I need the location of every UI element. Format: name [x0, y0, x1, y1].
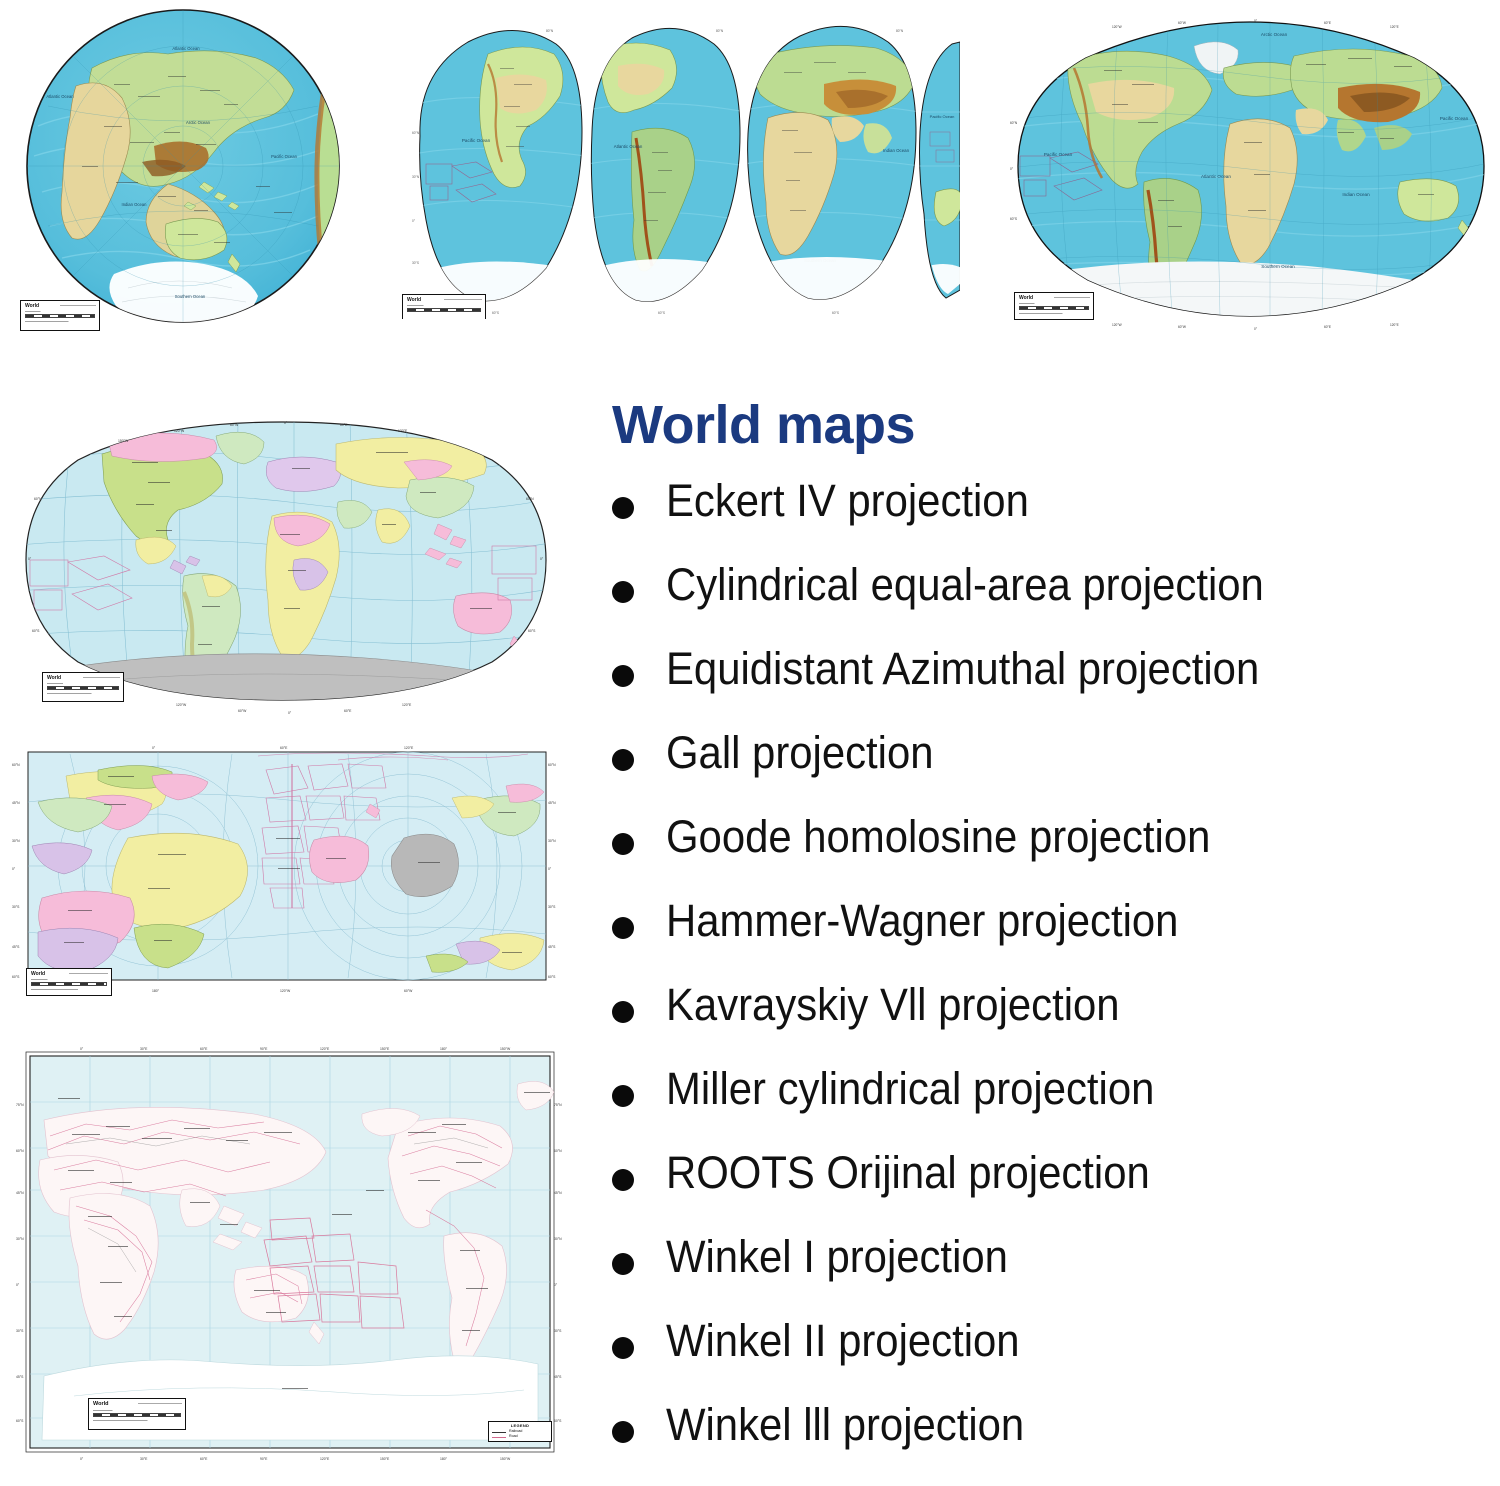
list-item[interactable]: Equidistant Azimuthal projection — [612, 646, 1492, 730]
svg-text:60°N: 60°N — [1010, 121, 1018, 125]
svg-text:60°S: 60°S — [32, 629, 40, 633]
svg-text:Southern Ocean: Southern Ocean — [1261, 264, 1295, 269]
legend-row-road: Road — [492, 1435, 548, 1439]
list-item-label: Winkel lll projection — [666, 1402, 1024, 1447]
svg-text:60°E: 60°E — [1324, 325, 1331, 329]
svg-text:0°: 0° — [412, 219, 416, 223]
svg-text:30°N: 30°N — [548, 839, 556, 843]
svg-text:90°E: 90°E — [260, 1457, 268, 1461]
svg-text:Pacific Ocean: Pacific Ocean — [1044, 152, 1073, 157]
svg-text:0°: 0° — [1010, 167, 1014, 171]
svg-text:0°: 0° — [554, 1283, 558, 1287]
legend-row-railroad: Railroad — [492, 1430, 548, 1434]
svg-text:60°N: 60°N — [16, 1149, 24, 1153]
map-miller-transport[interactable]: 75°N60°N45°N 30°N0°30°S 45°S60°S 75°N60°… — [14, 1040, 566, 1464]
svg-text:180°: 180° — [152, 989, 160, 993]
legend-title: LEGEND — [492, 1424, 548, 1429]
svg-text:120°W: 120°W — [280, 989, 291, 993]
svg-text:180°: 180° — [440, 1047, 448, 1051]
list-item-label: Miller cylindrical projection — [666, 1066, 1154, 1111]
bullet-icon — [612, 1253, 634, 1275]
svg-text:60°W: 60°W — [230, 423, 239, 427]
svg-text:120°E: 120°E — [402, 703, 412, 707]
projection-list: Eckert IV projection Cylindrical equal-a… — [612, 478, 1492, 1486]
svg-text:Indian Ocean: Indian Ocean — [122, 202, 148, 207]
svg-text:45°S: 45°S — [12, 945, 20, 949]
svg-text:90°E: 90°E — [260, 1047, 268, 1051]
svg-text:60°E: 60°E — [280, 746, 288, 750]
svg-text:80°N: 80°N — [716, 29, 724, 33]
svg-text:Atlantic Ocean: Atlantic Ocean — [46, 94, 74, 99]
svg-text:150°W: 150°W — [500, 1047, 511, 1051]
svg-text:30°N: 30°N — [16, 1237, 24, 1241]
list-item[interactable]: Winkel lll projection — [612, 1402, 1492, 1486]
svg-text:Pacific Ocean: Pacific Ocean — [271, 154, 298, 159]
svg-text:0°: 0° — [288, 711, 292, 715]
svg-text:0°: 0° — [1254, 327, 1258, 331]
bullet-icon — [612, 581, 634, 603]
svg-text:120°W: 120°W — [1112, 25, 1122, 29]
svg-text:60°S: 60°S — [16, 1419, 24, 1423]
svg-text:180°: 180° — [440, 1457, 448, 1461]
svg-text:60°S: 60°S — [12, 975, 20, 979]
list-item[interactable]: Miller cylindrical projection — [612, 1066, 1492, 1150]
map-political-oval[interactable]: 150°W120°W60°W 0°60°E120°E 150°W120°W60°… — [6, 400, 566, 720]
svg-text:30°S: 30°S — [554, 1329, 562, 1333]
svg-text:0°: 0° — [80, 1047, 84, 1051]
svg-text:60°N: 60°N — [554, 1149, 562, 1153]
svg-text:45°S: 45°S — [548, 945, 556, 949]
map-titleblock: World — [1014, 292, 1094, 320]
legend-label: Road — [509, 1435, 518, 1439]
bullet-icon — [612, 1337, 634, 1359]
svg-text:30°S: 30°S — [412, 261, 419, 265]
list-item-label: Goode homolosine projection — [666, 814, 1210, 859]
svg-text:120°W: 120°W — [174, 429, 185, 433]
bullet-icon — [612, 1169, 634, 1191]
bullet-icon — [612, 1421, 634, 1443]
list-item-label: Kavrayskiy Vll projection — [666, 982, 1120, 1027]
svg-text:30°E: 30°E — [140, 1047, 148, 1051]
svg-text:0°: 0° — [12, 867, 16, 871]
map-titleblock: World — [42, 672, 124, 702]
svg-text:60°S: 60°S — [548, 975, 556, 979]
svg-text:60°S: 60°S — [492, 311, 499, 315]
bullet-icon — [612, 1085, 634, 1107]
svg-text:150°E: 150°E — [380, 1457, 390, 1461]
svg-text:60°E: 60°E — [1324, 21, 1331, 25]
svg-text:60°S: 60°S — [528, 629, 536, 633]
bullet-icon — [612, 1001, 634, 1023]
list-item[interactable]: ROOTS Orijinal projection — [612, 1150, 1492, 1234]
svg-text:60°W: 60°W — [404, 989, 413, 993]
map-legend: LEGEND Railroad Road — [488, 1421, 552, 1442]
map-winkel-oval-physical[interactable]: Arctic Ocean Pacific Ocean Pacific Ocean… — [1008, 4, 1493, 334]
bullet-icon — [612, 833, 634, 855]
list-item-label: Winkel II projection — [666, 1318, 1020, 1363]
svg-text:0°: 0° — [152, 746, 156, 750]
svg-text:30°N: 30°N — [554, 1237, 562, 1241]
svg-text:45°N: 45°N — [554, 1191, 562, 1195]
svg-text:60°W: 60°W — [238, 709, 247, 713]
list-item[interactable]: Cylindrical equal-area projection — [612, 562, 1492, 646]
svg-text:120°E: 120°E — [404, 746, 414, 750]
svg-text:60°E: 60°E — [340, 423, 348, 427]
list-item-label: ROOTS Orijinal projection — [666, 1150, 1150, 1195]
svg-text:60°E: 60°E — [200, 1047, 208, 1051]
svg-text:120°W: 120°W — [176, 703, 187, 707]
list-item[interactable]: Winkel II projection — [612, 1318, 1492, 1402]
svg-text:Indian Ocean: Indian Ocean — [1342, 192, 1370, 197]
map-cylindrical-equal-area-political[interactable]: 60°N45°N30°N 0°30°S45°S 60°S 60°N45°N30°… — [8, 742, 560, 997]
svg-text:120°E: 120°E — [320, 1457, 330, 1461]
svg-text:Arctic Ocean: Arctic Ocean — [1261, 32, 1288, 37]
svg-text:60°W: 60°W — [1178, 21, 1186, 25]
svg-text:Pacific Ocean: Pacific Ocean — [1440, 116, 1469, 121]
list-item-label: Eckert IV projection — [666, 478, 1029, 523]
svg-text:0°: 0° — [548, 867, 552, 871]
bullet-icon — [612, 749, 634, 771]
list-item-label: Gall projection — [666, 730, 934, 775]
svg-text:60°S: 60°S — [658, 311, 665, 315]
svg-text:60°N: 60°N — [34, 497, 42, 501]
svg-text:0°: 0° — [80, 1457, 84, 1461]
bullet-icon — [612, 497, 634, 519]
svg-text:150°W: 150°W — [118, 439, 129, 443]
map-globe-azimuthal[interactable]: Atlantic Ocean Atlantic Ocean Arctic Oce… — [18, 6, 348, 331]
list-item-label: Hammer-Wagner projection — [666, 898, 1178, 943]
svg-text:120°E: 120°E — [1390, 323, 1399, 327]
list-item[interactable]: Goode homolosine projection — [612, 814, 1492, 898]
svg-text:30°N: 30°N — [412, 175, 420, 179]
svg-text:45°S: 45°S — [16, 1375, 24, 1379]
bullet-icon — [612, 665, 634, 687]
svg-text:30°S: 30°S — [548, 905, 556, 909]
list-item-label: Winkel I projection — [666, 1234, 1008, 1279]
svg-text:60°S: 60°S — [554, 1419, 562, 1423]
svg-text:45°N: 45°N — [16, 1191, 24, 1195]
svg-text:60°N: 60°N — [12, 763, 20, 767]
svg-text:75°N: 75°N — [554, 1103, 562, 1107]
svg-text:60°N: 60°N — [412, 131, 420, 135]
map-titleblock: World — [26, 968, 112, 996]
svg-text:60°E: 60°E — [200, 1457, 208, 1461]
svg-text:60°N: 60°N — [548, 763, 556, 767]
map-titleblock: World — [88, 1398, 186, 1430]
railroad-line-swatch — [492, 1432, 506, 1433]
svg-text:Pacific Ocean: Pacific Ocean — [930, 114, 955, 119]
bullet-icon — [612, 917, 634, 939]
svg-text:60°N: 60°N — [526, 497, 534, 501]
svg-text:30°S: 30°S — [16, 1329, 24, 1333]
svg-text:0°: 0° — [16, 1283, 20, 1287]
list-item[interactable]: Kavrayskiy Vll projection — [612, 982, 1492, 1066]
svg-text:60°S: 60°S — [1010, 217, 1017, 221]
svg-text:75°N: 75°N — [16, 1103, 24, 1107]
svg-text:120°E: 120°E — [320, 1047, 330, 1051]
svg-text:30°N: 30°N — [12, 839, 20, 843]
svg-text:150°E: 150°E — [380, 1047, 390, 1051]
svg-text:Atlantic Ocean: Atlantic Ocean — [172, 46, 200, 51]
svg-text:60°W: 60°W — [1178, 325, 1186, 329]
legend-label: Railroad — [509, 1430, 522, 1434]
svg-text:Atlantic Ocean: Atlantic Ocean — [614, 144, 643, 149]
svg-text:Indian Ocean: Indian Ocean — [883, 148, 910, 153]
svg-text:Arctic Ocean: Arctic Ocean — [186, 120, 211, 125]
svg-text:Pacific Ocean: Pacific Ocean — [462, 138, 491, 143]
svg-text:45°N: 45°N — [548, 801, 556, 805]
svg-text:45°N: 45°N — [12, 801, 20, 805]
map-titleblock: World — [402, 294, 486, 319]
svg-text:80°N: 80°N — [546, 29, 554, 33]
poster-canvas: Atlantic Ocean Atlantic Ocean Arctic Oce… — [0, 0, 1500, 1469]
svg-text:60°S: 60°S — [832, 311, 839, 315]
svg-text:30°E: 30°E — [140, 1457, 148, 1461]
svg-text:Southern Ocean: Southern Ocean — [175, 294, 206, 299]
map-titleblock: World — [20, 300, 100, 331]
page-title: World maps — [612, 398, 915, 452]
svg-text:120°W: 120°W — [1112, 323, 1122, 327]
list-item-label: Equidistant Azimuthal projection — [666, 646, 1259, 691]
svg-text:Atlantic Ocean: Atlantic Ocean — [1201, 174, 1231, 179]
list-item[interactable]: Eckert IV projection — [612, 478, 1492, 562]
list-item-label: Cylindrical equal-area projection — [666, 562, 1264, 607]
svg-text:30°S: 30°S — [12, 905, 20, 909]
list-item[interactable]: Gall projection — [612, 730, 1492, 814]
svg-text:80°N: 80°N — [896, 29, 904, 33]
svg-text:45°S: 45°S — [554, 1375, 562, 1379]
svg-text:60°E: 60°E — [344, 709, 352, 713]
list-item[interactable]: Winkel I projection — [612, 1234, 1492, 1318]
svg-text:120°E: 120°E — [398, 429, 408, 433]
svg-text:120°E: 120°E — [1390, 25, 1399, 29]
list-item[interactable]: Hammer-Wagner projection — [612, 898, 1492, 982]
svg-text:150°W: 150°W — [500, 1457, 511, 1461]
map-goode-homolosine[interactable]: Pacific Ocean Atlantic Ocean — [396, 14, 960, 319]
road-line-swatch — [492, 1437, 506, 1438]
